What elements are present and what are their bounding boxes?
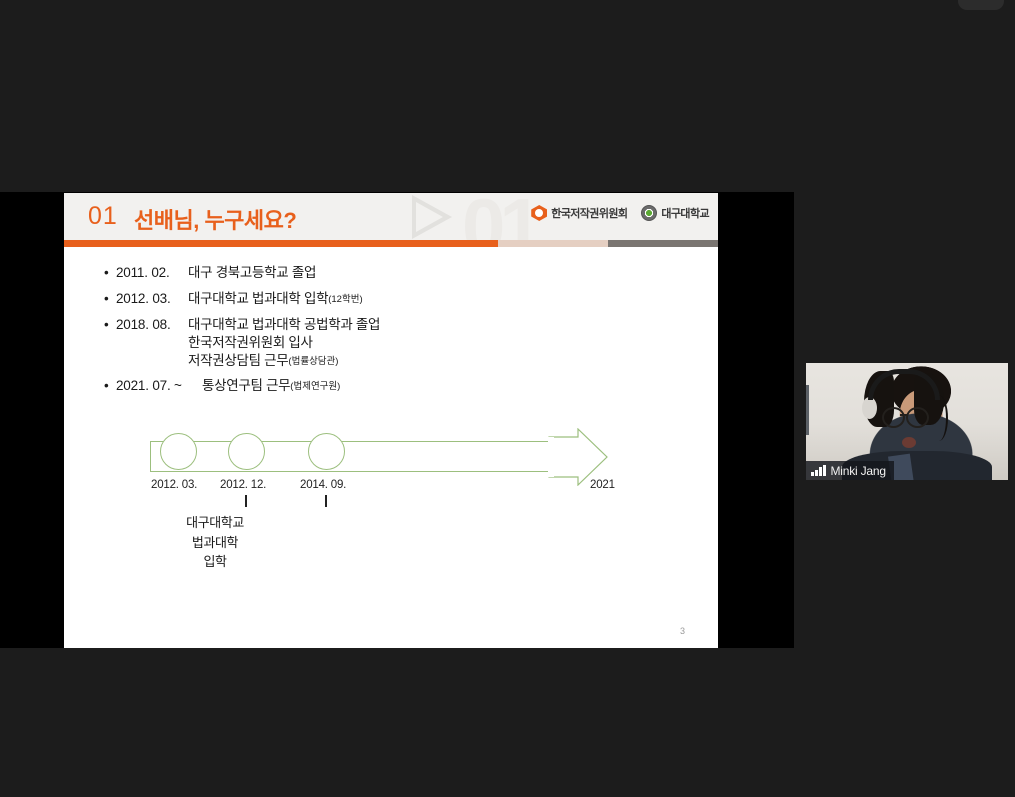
timeline-label-2: 2012. 12.	[220, 479, 266, 491]
timeline-caption-line-3: 입학	[160, 552, 270, 572]
avatar-glasses-right	[906, 407, 929, 428]
bullet-date: 2018. 08.	[116, 317, 188, 334]
list-item-sub: 저작권상담팀 근무(법률상담관)	[104, 353, 664, 370]
page-title: 선배님, 누구세요?	[134, 203, 296, 235]
kcc-logo-label: 한국저작권위원회	[551, 205, 627, 221]
list-item: • 2011. 02. 대구 경북고등학교 졸업	[104, 265, 664, 282]
timeline-bar-fill	[151, 442, 559, 471]
play-triangle-watermark-inner-icon	[416, 202, 443, 232]
participant-video-tile[interactable]: Minki Jang	[806, 363, 1008, 480]
list-item: • 2012. 03. 대구대학교 법과대학 입학(12학번)	[104, 291, 664, 308]
video-edge-artifact	[806, 385, 809, 435]
accent-segment-orange	[64, 240, 498, 247]
sub-note: (법률상담관)	[288, 353, 338, 370]
daegu-university-logo-label: 대구대학교	[661, 205, 709, 221]
timeline-tick-3	[325, 495, 327, 507]
slide-header: 01 01 선배님, 누구세요? 한국저작권위원회 대구대학교	[64, 193, 718, 240]
bullet-note: (법제연구원)	[290, 378, 340, 392]
kcc-logo: 한국저작권위원회	[531, 205, 627, 221]
list-item: • 2021. 07. ~ 통상연구팀 근무(법제연구원)	[104, 378, 664, 395]
logo-group: 한국저작권위원회 대구대학교	[531, 205, 709, 221]
timeline-node-3	[308, 433, 345, 470]
kcc-logo-icon	[531, 205, 547, 221]
accent-segment-peach	[498, 240, 608, 247]
signal-bars-icon	[811, 465, 826, 476]
timeline-node-1	[160, 433, 197, 470]
bullet-icon: •	[104, 265, 116, 282]
bullet-list: • 2011. 02. 대구 경북고등학교 졸업 • 2012. 03. 대구대…	[104, 265, 664, 404]
timeline-label-end: 2021	[590, 479, 615, 491]
bullet-icon: •	[104, 317, 116, 334]
bullet-date: 2021. 07. ~	[116, 378, 202, 395]
bullet-icon: •	[104, 291, 116, 308]
timeline-diagram: 2012. 03. 2012. 12. 2014. 09. 2021 대구대학교…	[150, 433, 650, 553]
timeline-caption-line-2: 법과대학	[160, 533, 270, 553]
bullet-text: 대구 경북고등학교 졸업	[188, 265, 316, 282]
header-watermark-number: 01	[462, 193, 537, 240]
sub-text: 저작권상담팀 근무	[188, 353, 288, 370]
bullet-text: 대구대학교 법과대학 공법학과 졸업	[188, 317, 380, 334]
bullet-text: 대구대학교 법과대학 입학	[188, 291, 328, 308]
avatar-glasses-bridge	[900, 414, 908, 416]
timeline-node-2	[228, 433, 265, 470]
bullet-date: 2011. 02.	[116, 265, 188, 282]
timeline-caption-line-1: 대구대학교	[160, 513, 270, 533]
bullet-icon: •	[104, 378, 116, 395]
timeline-arrowhead-icon	[548, 428, 608, 486]
timeline-tick-2	[245, 495, 247, 507]
page-number: 3	[680, 626, 685, 636]
avatar-headphone-cup	[862, 397, 877, 419]
bullet-text: 통상연구팀 근무	[202, 378, 290, 395]
timeline-label-1: 2012. 03.	[151, 479, 197, 491]
shared-slide[interactable]: 01 01 선배님, 누구세요? 한국저작권위원회 대구대학교 •	[64, 193, 718, 648]
participant-name-badge: Minki Jang	[806, 461, 894, 480]
avatar-glasses-left	[882, 407, 905, 428]
daegu-university-logo-icon	[641, 205, 657, 221]
avatar-mic-boom	[930, 395, 948, 441]
timeline-caption: 대구대학교 법과대학 입학	[160, 513, 270, 572]
sub-text: 한국저작권위원회 입사	[188, 335, 313, 352]
bullet-note: (12학번)	[328, 291, 362, 305]
avatar-mouth	[902, 437, 916, 448]
timeline-label-3: 2014. 09.	[300, 479, 346, 491]
accent-bar	[64, 240, 718, 247]
collapsed-toolbar-pill[interactable]	[958, 0, 1004, 10]
meeting-screen: 01 01 선배님, 누구세요? 한국저작권위원회 대구대학교 •	[0, 0, 1015, 797]
section-number: 01	[88, 202, 118, 231]
daegu-university-logo: 대구대학교	[641, 205, 709, 221]
accent-segment-gray	[608, 240, 718, 247]
list-item: • 2018. 08. 대구대학교 법과대학 공법학과 졸업	[104, 317, 664, 334]
sub-indent	[104, 353, 188, 370]
participant-name: Minki Jang	[831, 464, 886, 478]
list-item-sub: 한국저작권위원회 입사	[104, 335, 664, 352]
sub-indent	[104, 335, 188, 352]
bullet-date: 2012. 03.	[116, 291, 188, 308]
